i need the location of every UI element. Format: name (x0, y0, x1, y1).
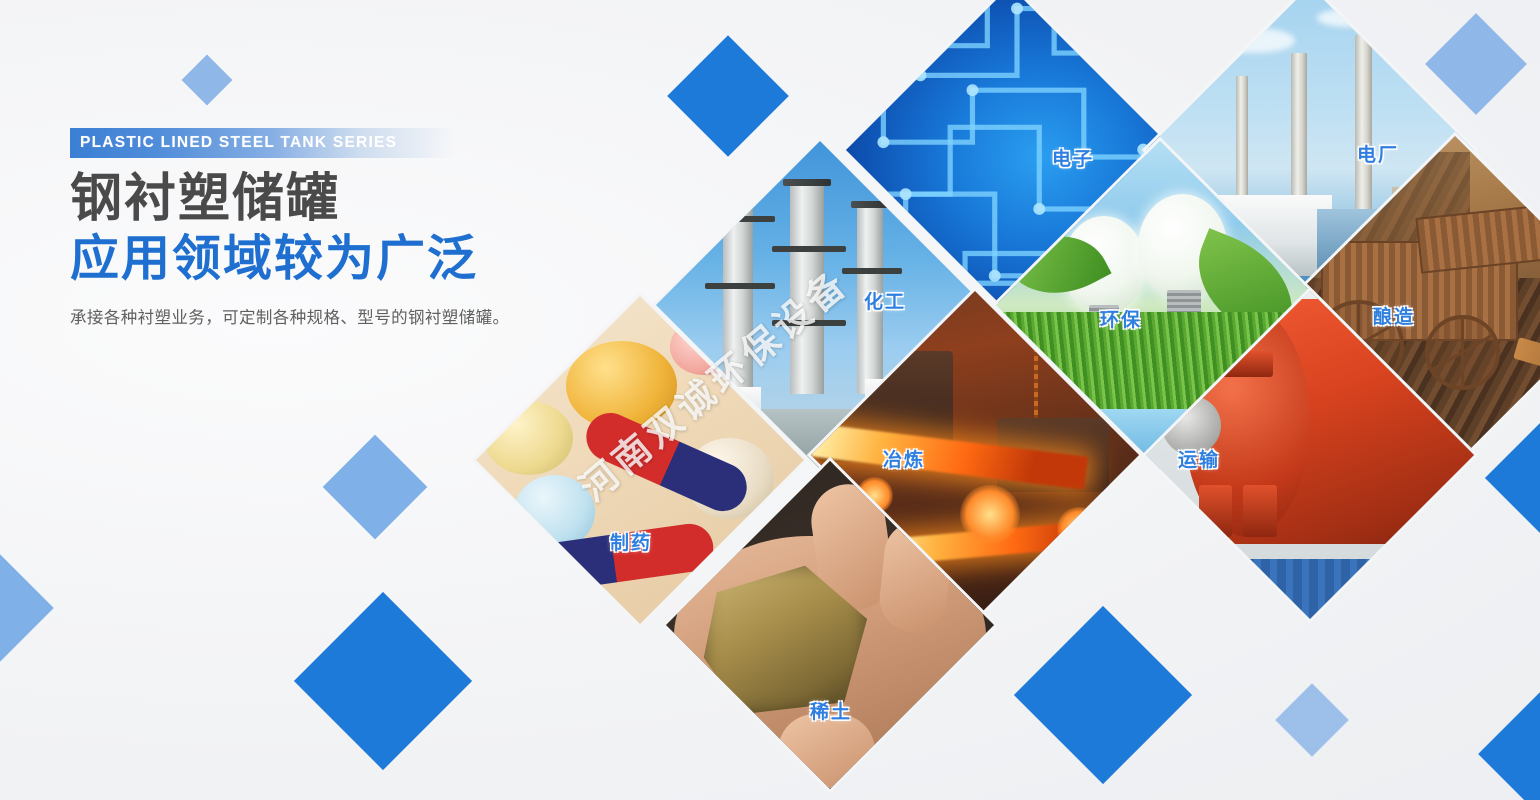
collage-label-power-plant: 电厂 (1357, 140, 1399, 167)
collage-label-smelting: 冶炼 (883, 445, 925, 472)
collage-label-chemical: 化工 (864, 287, 906, 314)
collage-label-rare-earth: 稀土 (810, 697, 852, 724)
collage-label-transport: 运输 (1178, 445, 1220, 472)
collage-label-brewing: 酿造 (1373, 302, 1415, 329)
page-description: 承接各种衬塑业务，可定制各种规格、型号的钢衬塑储罐。 (70, 306, 710, 331)
hero-text-block: PLASTIC LINED STEEL TANK SERIES 钢衬塑储罐 应用… (70, 128, 710, 331)
series-badge-label: PLASTIC LINED STEEL TANK SERIES (70, 134, 397, 152)
industry-collage: 电子 电厂 (0, 0, 1540, 800)
series-badge: PLASTIC LINED STEEL TANK SERIES (70, 128, 455, 158)
banner-root: 电子 电厂 (0, 0, 1540, 800)
page-title: 钢衬塑储罐 (70, 172, 710, 227)
collage-label-environment: 环保 (1100, 305, 1142, 332)
page-subtitle: 应用领域较为广泛 (70, 233, 710, 286)
collage-label-pharmaceutical: 制药 (610, 528, 652, 555)
collage-label-electronics: 电子 (1052, 144, 1094, 171)
